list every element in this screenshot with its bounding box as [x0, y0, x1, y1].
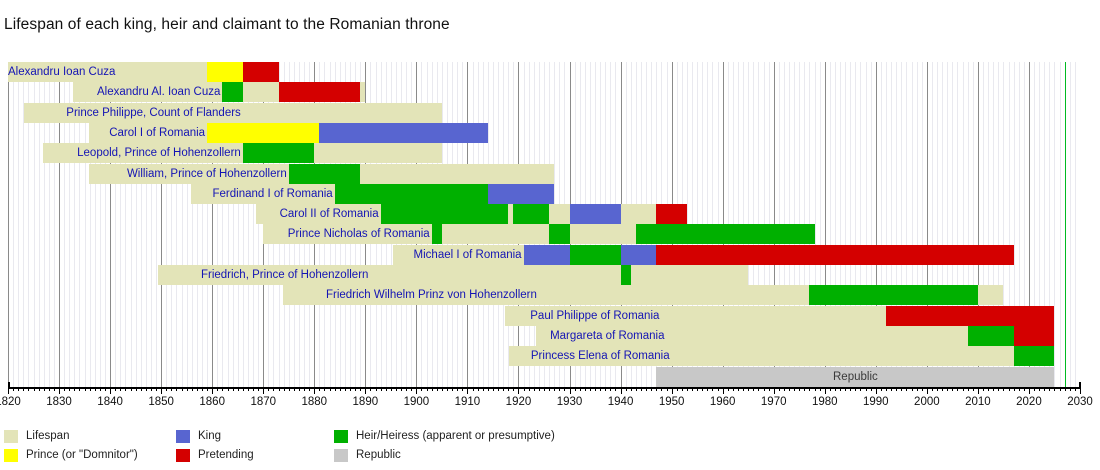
axis-tick-minor — [166, 387, 167, 391]
axis-tick-major — [467, 387, 468, 394]
axis-tick-minor — [233, 387, 234, 391]
segment-lifespan — [360, 164, 554, 184]
axis-tick-minor — [207, 387, 208, 391]
segment-king — [621, 245, 657, 265]
axis-tick-minor — [268, 387, 269, 391]
axis-tick-minor — [799, 387, 800, 391]
axis-tick-minor — [376, 387, 377, 391]
axis-tick-minor — [605, 387, 606, 391]
segment-lifespan — [370, 265, 620, 285]
axis-tick-minor — [299, 387, 300, 391]
segment-heir — [968, 326, 1014, 346]
timeline-rows: RepublicAlexandru Ioan CuzaAlexandru Al.… — [8, 62, 1080, 387]
axis-tick-minor — [937, 387, 938, 391]
axis-tick-minor — [217, 387, 218, 391]
axis-tick-minor — [764, 387, 765, 391]
axis-tick-minor — [804, 387, 805, 391]
row-label: Ferdinand I of Romania — [8, 184, 335, 204]
axis-tick-minor — [743, 387, 744, 391]
axis-tick-minor — [330, 387, 331, 391]
segment-lifespan — [442, 224, 549, 244]
axis-tick-label: 1940 — [608, 396, 634, 408]
axis-tick-minor — [478, 387, 479, 391]
axis-tick-minor — [228, 387, 229, 391]
axis-tick-minor — [718, 387, 719, 391]
axis-tick-minor — [493, 387, 494, 391]
row-label: Alexandru Al. Ioan Cuza — [8, 82, 222, 102]
axis-tick-label: 1890 — [353, 396, 379, 408]
axis-tick-minor — [738, 387, 739, 391]
segment-king — [319, 123, 487, 143]
axis-tick-minor — [595, 387, 596, 391]
axis-tick-minor — [769, 387, 770, 391]
axis-tick-label: 1870 — [250, 396, 276, 408]
axis-tick-label: 1920 — [506, 396, 532, 408]
axis-tick-minor — [820, 387, 821, 391]
axis-tick-minor — [1034, 387, 1035, 391]
axis-tick-minor — [850, 387, 851, 391]
axis-tick-major — [1029, 387, 1030, 394]
axis-tick-minor — [529, 387, 530, 391]
axis-tick-major — [570, 387, 571, 394]
axis-tick-minor — [656, 387, 657, 391]
axis-tick-major — [59, 387, 60, 394]
legend: LifespanPrince (or "Domnitor")KingPreten… — [4, 428, 1094, 468]
axis-tick-minor — [998, 387, 999, 391]
axis-tick-major — [1080, 387, 1081, 394]
axis-tick-label: 1980 — [812, 396, 838, 408]
axis-tick-minor — [896, 387, 897, 391]
row-label: Paul Philippe of Romania — [8, 306, 661, 326]
segment-heir — [570, 245, 621, 265]
segment-heir — [1014, 346, 1055, 366]
axis-tick-minor — [187, 387, 188, 391]
segment-lifespan — [621, 204, 657, 224]
row-label: Margareta of Romania — [8, 326, 667, 346]
axis-tick-minor — [733, 387, 734, 391]
axis-tick-minor — [855, 387, 856, 391]
segment-lifespan — [672, 346, 1014, 366]
axis-tick-minor — [182, 387, 183, 391]
axis-tick-major — [8, 387, 9, 394]
axis-tick-minor — [253, 387, 254, 391]
segment-lifespan — [314, 143, 442, 163]
axis-tick-minor — [1014, 387, 1015, 391]
axis-tick-label: 1860 — [199, 396, 225, 408]
segment-lifespan — [661, 306, 886, 326]
segment-heir — [222, 82, 242, 102]
axis-tick-minor — [85, 387, 86, 391]
legend-label: Prince (or "Domnitor") — [26, 447, 138, 464]
axis-tick-minor — [968, 387, 969, 391]
axis-tick-minor — [238, 387, 239, 391]
axis-tick-label: 1830 — [46, 396, 72, 408]
row-label: Prince Philippe, Count of Flanders — [8, 103, 243, 123]
axis-tick-minor — [406, 387, 407, 391]
axis-tick-minor — [13, 387, 14, 391]
axis-tick-minor — [554, 387, 555, 391]
axis-tick-minor — [993, 387, 994, 391]
row-label: Princess Elena of Romania — [8, 346, 672, 366]
axis-tick-minor — [677, 387, 678, 391]
segment-king — [524, 245, 570, 265]
axis-tick-minor — [360, 387, 361, 391]
republic-band-label: Republic — [656, 367, 1054, 387]
axis-tick-minor — [651, 387, 652, 391]
axis-tick-minor — [840, 387, 841, 391]
axis-tick-label: 1820 — [0, 396, 21, 408]
axis-tick-minor — [105, 387, 106, 391]
axis-tick-minor — [1039, 387, 1040, 391]
axis-tick-minor — [345, 387, 346, 391]
axis-tick-minor — [248, 387, 249, 391]
segment-pretending — [886, 306, 1054, 326]
axis-tick-minor — [125, 387, 126, 391]
axis-tick-minor — [69, 387, 70, 391]
segment-heir — [636, 224, 815, 244]
segment-heir — [289, 164, 360, 184]
axis-tick-major — [416, 387, 417, 394]
axis-tick-minor — [401, 387, 402, 391]
axis-tick-minor — [391, 387, 392, 391]
axis-tick-minor — [539, 387, 540, 391]
segment-prince — [207, 62, 243, 82]
axis-tick-minor — [942, 387, 943, 391]
axis-tick-minor — [442, 387, 443, 391]
axis-tick-minor — [447, 387, 448, 391]
axis-tick-label: 1960 — [710, 396, 736, 408]
axis-tick-minor — [1049, 387, 1050, 391]
legend-swatch-king — [176, 430, 190, 443]
axis-tick-label: 1850 — [148, 396, 174, 408]
axis-tick-minor — [712, 387, 713, 391]
axis-tick-minor — [513, 387, 514, 391]
axis-tick-minor — [222, 387, 223, 391]
axis-tick-minor — [28, 387, 29, 391]
axis-tick-minor — [575, 387, 576, 391]
axis-tick-minor — [192, 387, 193, 391]
axis-tick-minor — [279, 387, 280, 391]
axis-tick-minor — [136, 387, 137, 391]
axis-tick-minor — [702, 387, 703, 391]
axis-tick-minor — [427, 387, 428, 391]
legend-swatch-prince — [4, 449, 18, 462]
axis-tick-minor — [988, 387, 989, 391]
axis-tick-minor — [534, 387, 535, 391]
axis-tick-minor — [1003, 387, 1004, 391]
legend-swatch-lifespan — [4, 430, 18, 443]
axis-tick-major — [365, 387, 366, 394]
segment-king — [488, 184, 554, 204]
axis-tick-minor — [44, 387, 45, 391]
axis-tick-minor — [319, 387, 320, 391]
segment-heir — [549, 224, 569, 244]
segment-lifespan — [549, 204, 569, 224]
row-label: Prince Nicholas of Romania — [8, 224, 432, 244]
axis-tick-major — [212, 387, 213, 394]
axis-tick-label: 2030 — [1067, 396, 1093, 408]
page-title: Lifespan of each king, heir and claimant… — [4, 16, 450, 34]
row-label: Friedrich Wilhelm Prinz von Hohenzollern — [8, 285, 539, 305]
axis-tick-minor — [1019, 387, 1020, 391]
axis-tick-minor — [697, 387, 698, 391]
axis-tick-label: 1880 — [301, 396, 327, 408]
axis-tick-minor — [49, 387, 50, 391]
axis-tick-minor — [23, 387, 24, 391]
segment-lifespan — [243, 103, 442, 123]
axis-tick-minor — [549, 387, 550, 391]
axis-tick-minor — [667, 387, 668, 391]
segment-heir — [432, 224, 442, 244]
axis-tick-minor — [789, 387, 790, 391]
axis-tick-minor — [498, 387, 499, 391]
axis-tick-label: 1840 — [97, 396, 123, 408]
axis-tick-major — [263, 387, 264, 394]
axis-tick-minor — [835, 387, 836, 391]
segment-heir — [513, 204, 549, 224]
axis-tick-minor — [120, 387, 121, 391]
axis-tick-minor — [600, 387, 601, 391]
axis-tick-label: 2000 — [914, 396, 940, 408]
row-label: Michael I of Romania — [8, 245, 524, 265]
axis-tick-minor — [381, 387, 382, 391]
segment-pretending — [243, 62, 279, 82]
axis-tick-minor — [141, 387, 142, 391]
axis-tick-label: 2020 — [1016, 396, 1042, 408]
axis-tick-minor — [335, 387, 336, 391]
legend-label: Republic — [356, 447, 401, 464]
axis-tick-minor — [559, 387, 560, 391]
axis-tick-minor — [284, 387, 285, 391]
axis-tick-label: 1900 — [404, 396, 430, 408]
segment-heir — [381, 204, 509, 224]
axis-tick-minor — [758, 387, 759, 391]
axis-tick-minor — [421, 387, 422, 391]
axis-tick-minor — [34, 387, 35, 391]
axis-tick-minor — [615, 387, 616, 391]
axis-tick-minor — [809, 387, 810, 391]
axis-tick-minor — [1070, 387, 1071, 391]
segment-lifespan — [360, 82, 365, 102]
axis-tick-minor — [753, 387, 754, 391]
axis-tick-minor — [901, 387, 902, 391]
axis-tick-minor — [580, 387, 581, 391]
row-label: Leopold, Prince of Hohenzollern — [8, 143, 243, 163]
axis-tick-minor — [340, 387, 341, 391]
axis-tick-label: 1970 — [761, 396, 787, 408]
axis-tick-minor — [176, 387, 177, 391]
axis-tick-major — [672, 387, 673, 394]
segment-lifespan — [631, 265, 748, 285]
axis-tick-minor — [355, 387, 356, 391]
segment-heir — [809, 285, 977, 305]
axis-tick-minor — [794, 387, 795, 391]
axis-tick-minor — [396, 387, 397, 391]
timeline-chart: Lifespan of each king, heir and claimant… — [0, 0, 1100, 470]
legend-swatch-heir — [334, 430, 348, 443]
row-label: Friedrich, Prince of Hohenzollern — [8, 265, 370, 285]
timeline-row[interactable] — [8, 62, 1080, 82]
axis-tick-major — [723, 387, 724, 394]
axis-tick-minor — [1009, 387, 1010, 391]
axis-tick-minor — [243, 387, 244, 391]
axis-tick-minor — [156, 387, 157, 391]
segment-lifespan — [978, 285, 1004, 305]
axis-tick-minor — [202, 387, 203, 391]
axis-tick-minor — [932, 387, 933, 391]
axis-tick-minor — [370, 387, 371, 391]
axis-tick-minor — [784, 387, 785, 391]
axis-tick-major — [110, 387, 111, 394]
axis-tick-minor — [54, 387, 55, 391]
axis-tick-minor — [983, 387, 984, 391]
axis-tick-minor — [386, 387, 387, 391]
axis-tick-major — [314, 387, 315, 394]
plot-area: RepublicAlexandru Ioan CuzaAlexandru Al.… — [8, 62, 1080, 387]
axis-tick-minor — [728, 387, 729, 391]
axis-tick-minor — [564, 387, 565, 391]
axis-tick-minor — [503, 387, 504, 391]
axis-tick-minor — [115, 387, 116, 391]
axis-tick-minor — [1044, 387, 1045, 391]
axis-tick-minor — [544, 387, 545, 391]
axis-tick-minor — [79, 387, 80, 391]
axis-tick-minor — [866, 387, 867, 391]
axis-tick-minor — [90, 387, 91, 391]
axis-tick-minor — [646, 387, 647, 391]
axis-tick-minor — [457, 387, 458, 391]
segment-pretending — [656, 245, 1013, 265]
axis-tick-minor — [779, 387, 780, 391]
axis-tick-minor — [641, 387, 642, 391]
axis-tick-minor — [886, 387, 887, 391]
segment-king — [570, 204, 621, 224]
legend-label: King — [198, 428, 221, 445]
axis-tick-minor — [508, 387, 509, 391]
segment-pretending — [656, 204, 687, 224]
legend-swatch-pretending — [176, 449, 190, 462]
segment-lifespan — [570, 224, 636, 244]
axis-tick-minor — [524, 387, 525, 391]
axis-tick-minor — [947, 387, 948, 391]
axis-tick-minor — [304, 387, 305, 391]
axis-tick-minor — [845, 387, 846, 391]
axis-tick-minor — [748, 387, 749, 391]
axis-tick-minor — [432, 387, 433, 391]
axis-tick-minor — [891, 387, 892, 391]
axis-tick-minor — [590, 387, 591, 391]
axis-tick-minor — [610, 387, 611, 391]
axis-tick-minor — [483, 387, 484, 391]
axis-tick-minor — [906, 387, 907, 391]
axis-tick-minor — [411, 387, 412, 391]
axis-tick-minor — [1065, 387, 1066, 391]
axis-tick-minor — [963, 387, 964, 391]
axis-tick-major — [825, 387, 826, 394]
axis-tick-label: 1990 — [863, 396, 889, 408]
axis-tick-minor — [661, 387, 662, 391]
axis-tick-minor — [309, 387, 310, 391]
axis-tick-label: 1950 — [659, 396, 685, 408]
axis-tick-minor — [631, 387, 632, 391]
axis-tick-major — [161, 387, 162, 394]
axis-tick-minor — [95, 387, 96, 391]
row-label: Carol II of Romania — [8, 204, 381, 224]
axis-tick-minor — [1054, 387, 1055, 391]
axis-tick-minor — [151, 387, 152, 391]
axis-tick-minor — [682, 387, 683, 391]
axis-tick-minor — [830, 387, 831, 391]
x-axis: 1820183018401850186018701880189019001910… — [8, 387, 1080, 417]
segment-heir — [621, 265, 631, 285]
axis-tick-minor — [687, 387, 688, 391]
axis-tick-minor — [1024, 387, 1025, 391]
axis-tick-major — [621, 387, 622, 394]
segment-lifespan — [243, 82, 279, 102]
axis-tick-minor — [64, 387, 65, 391]
axis-tick-minor — [289, 387, 290, 391]
axis-tick-minor — [922, 387, 923, 391]
axis-tick-minor — [18, 387, 19, 391]
segment-lifespan — [539, 285, 810, 305]
axis-tick-major — [876, 387, 877, 394]
legend-label: Pretending — [198, 447, 254, 464]
axis-tick-minor — [100, 387, 101, 391]
row-label: Alexandru Ioan Cuza — [8, 62, 10, 82]
axis-tick-minor — [881, 387, 882, 391]
axis-tick-minor — [952, 387, 953, 391]
axis-tick-minor — [488, 387, 489, 391]
axis-tick-minor — [131, 387, 132, 391]
segment-heir — [335, 184, 488, 204]
axis-tick-minor — [462, 387, 463, 391]
axis-tick-minor — [871, 387, 872, 391]
axis-tick-minor — [626, 387, 627, 391]
axis-tick-major — [978, 387, 979, 394]
axis-tick-minor — [917, 387, 918, 391]
segment-heir — [243, 143, 314, 163]
axis-tick-minor — [707, 387, 708, 391]
axis-tick-major — [774, 387, 775, 394]
axis-tick-minor — [912, 387, 913, 391]
legend-swatch-republic — [334, 449, 348, 462]
axis-tick-minor — [1060, 387, 1061, 391]
axis-tick-minor — [585, 387, 586, 391]
axis-tick-minor — [197, 387, 198, 391]
axis-tick-minor — [636, 387, 637, 391]
legend-label: Heir/Heiress (apparent or presumptive) — [356, 428, 555, 445]
axis-tick-minor — [146, 387, 147, 391]
axis-tick-label: 2010 — [965, 396, 991, 408]
axis-tick-minor — [692, 387, 693, 391]
axis-tick-minor — [324, 387, 325, 391]
axis-tick-minor — [350, 387, 351, 391]
axis-tick-minor — [452, 387, 453, 391]
axis-tick-minor — [294, 387, 295, 391]
axis-tick-minor — [74, 387, 75, 391]
axis-tick-minor — [815, 387, 816, 391]
axis-tick-minor — [39, 387, 40, 391]
axis-tick-label: 1930 — [557, 396, 583, 408]
axis-tick-minor — [273, 387, 274, 391]
segment-pretending — [1014, 326, 1055, 346]
legend-label: Lifespan — [26, 428, 69, 445]
row-label: William, Prince of Hohenzollern — [8, 164, 289, 184]
segment-lifespan — [667, 326, 968, 346]
axis-tick-minor — [473, 387, 474, 391]
today-marker-line — [1065, 62, 1067, 387]
axis-tick-minor — [1075, 387, 1076, 391]
